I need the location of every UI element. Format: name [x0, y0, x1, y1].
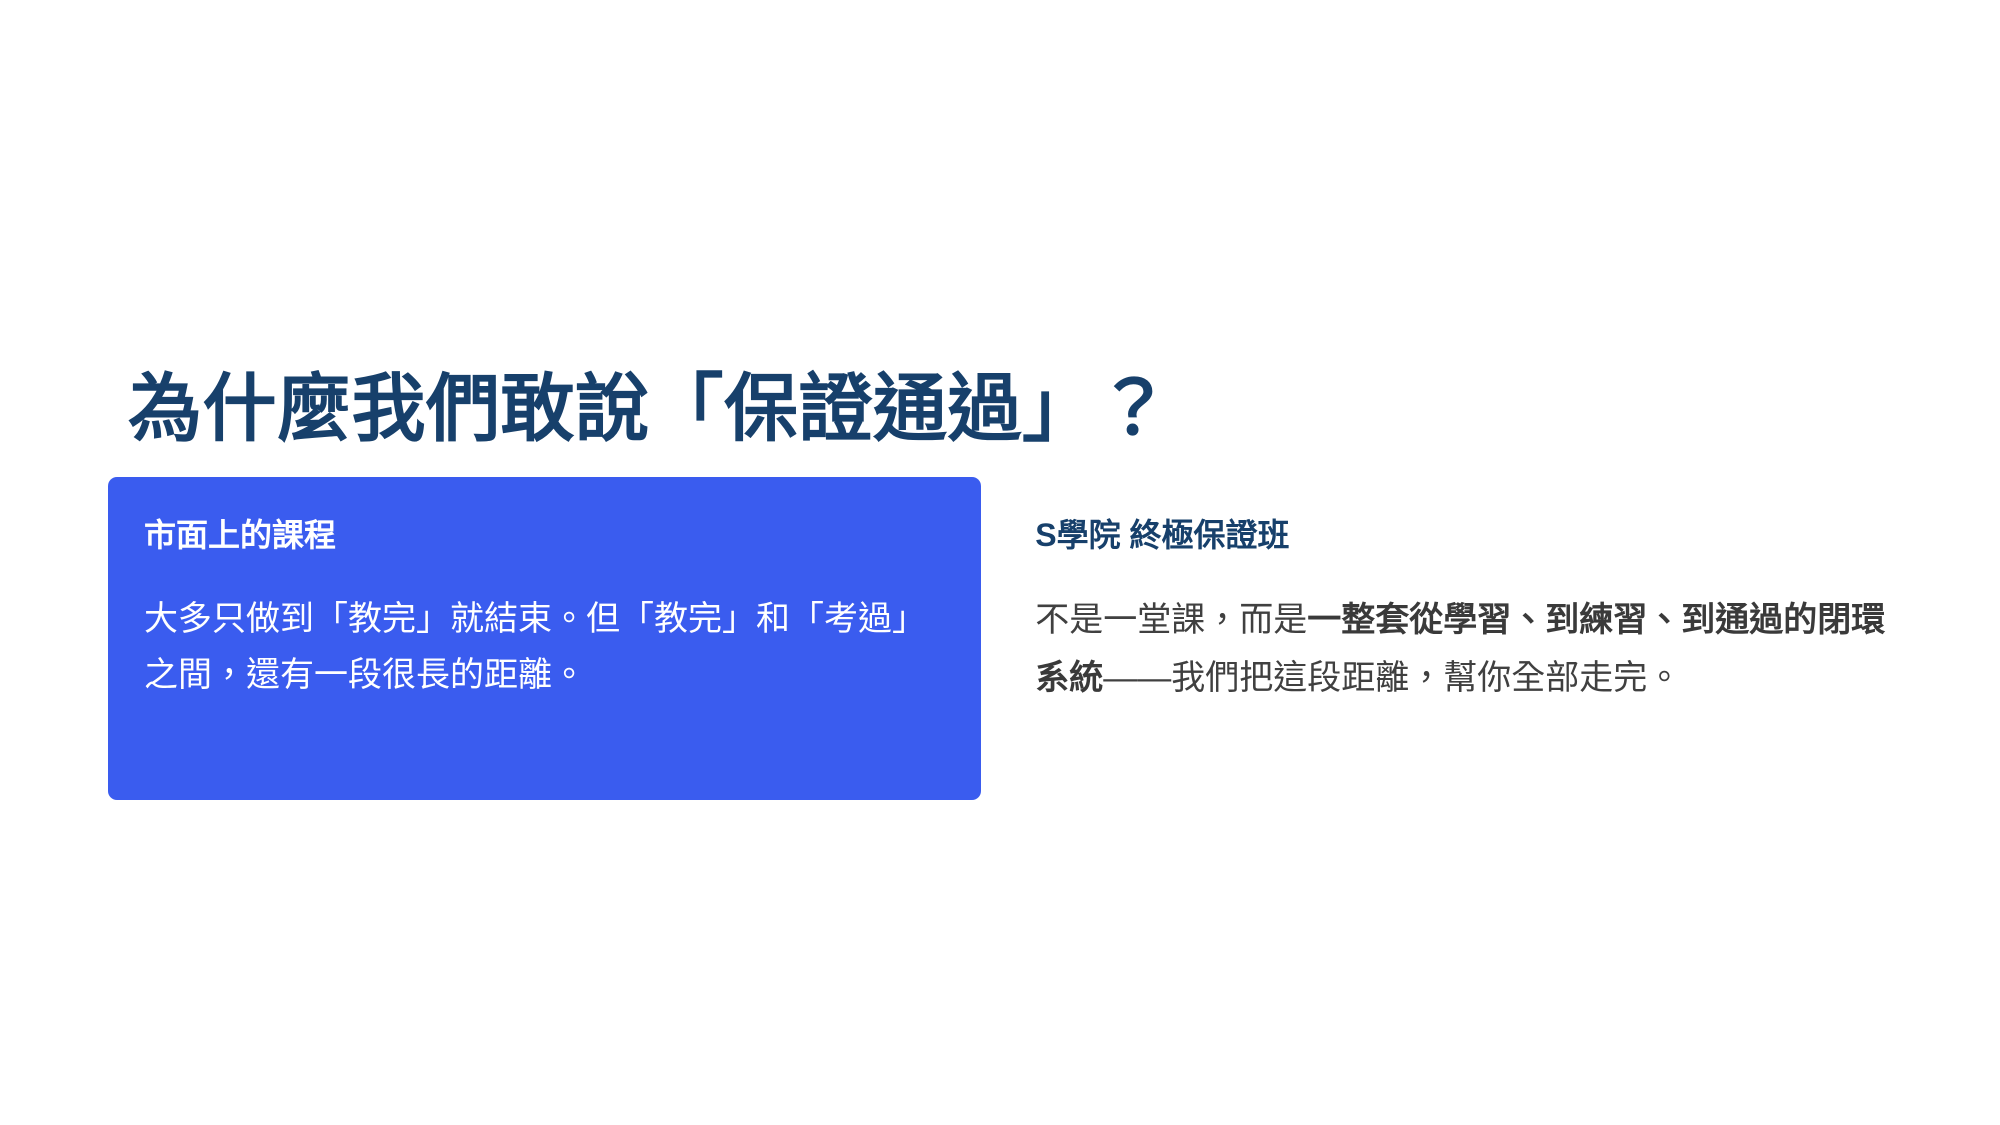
slide-canvas: 為什麼我們敢說「保證通過」？ 市面上的課程 大多只做到「教完」就結束。但「教完」… — [0, 0, 2000, 1125]
our-program-heading: S學院 終極保證班 — [1035, 515, 1908, 557]
our-program-card: S學院 終極保證班 不是一堂課，而是一整套從學習、到練習、到通過的閉環系統——我… — [1035, 477, 1908, 708]
market-courses-body: 大多只做到「教完」就結束。但「教完」和「考過」之間，還有一段很長的距離。 — [144, 591, 945, 704]
page-title: 為什麼我們敢說「保證通過」？ — [128, 368, 1171, 449]
market-courses-card: 市面上的課程 大多只做到「教完」就結束。但「教完」和「考過」之間，還有一段很長的… — [108, 477, 981, 800]
comparison-columns: 市面上的課程 大多只做到「教完」就結束。但「教完」和「考過」之間，還有一段很長的… — [108, 477, 1908, 800]
our-program-body: 不是一堂課，而是一整套從學習、到練習、到通過的閉環系統——我們把這段距離，幫你全… — [1035, 591, 1895, 708]
market-courses-heading: 市面上的課程 — [144, 515, 945, 557]
our-program-body-tail: ——我們把這段距離，幫你全部走完。 — [1103, 659, 1681, 697]
our-program-body-lead: 不是一堂課，而是 — [1035, 601, 1307, 639]
